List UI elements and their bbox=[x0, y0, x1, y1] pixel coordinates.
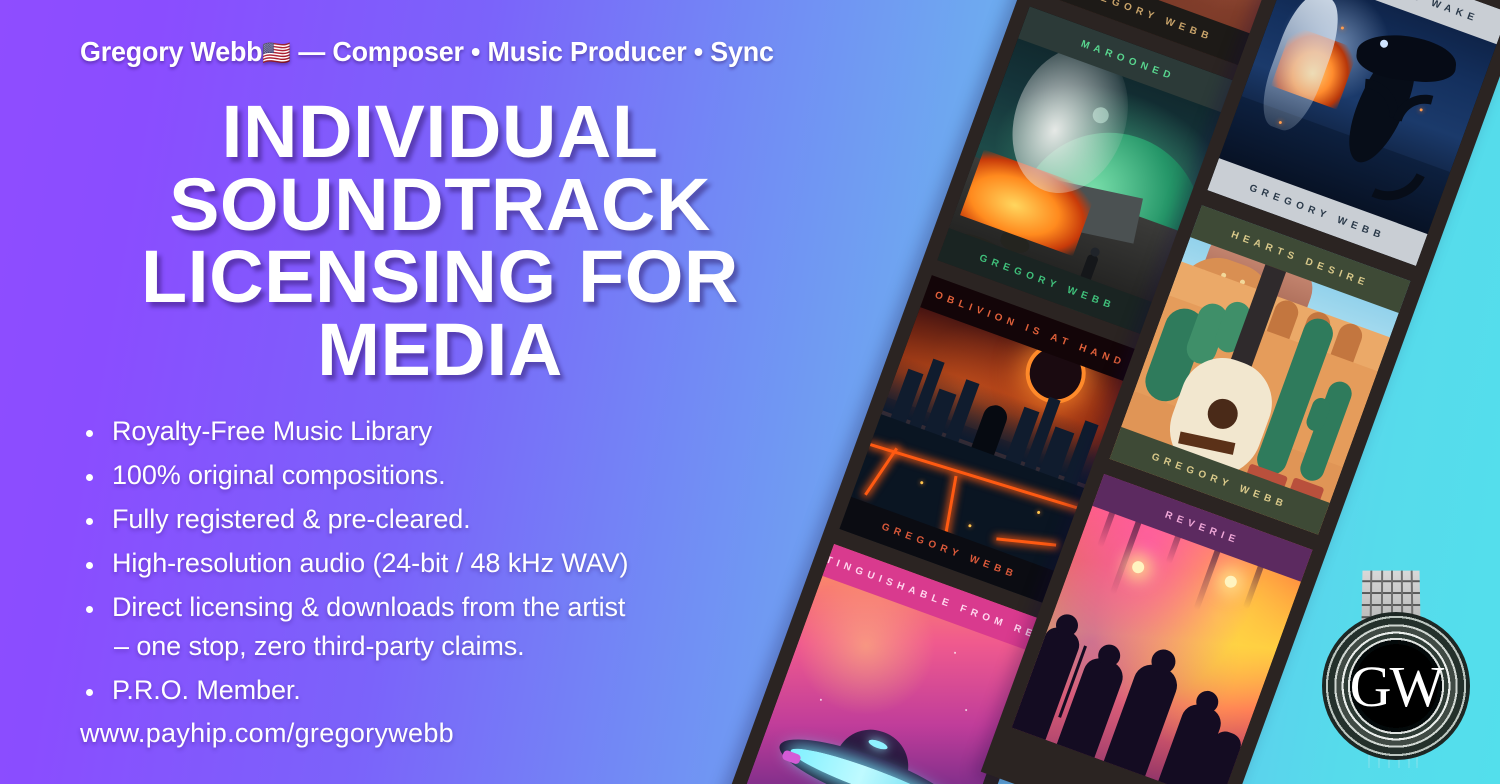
gw-guitar-logo: GW bbox=[1316, 568, 1476, 768]
headline-line-1: INDIVIDUAL bbox=[0, 96, 889, 169]
artist-name: Gregory Webb bbox=[80, 36, 262, 67]
list-item-subtext: – one stop, zero third-party claims. bbox=[112, 633, 838, 660]
store-url[interactable]: www.payhip.com/gregorywebb bbox=[80, 718, 454, 749]
headline-line-2: SOUNDTRACK bbox=[0, 169, 889, 242]
list-item-text: P.R.O. Member. bbox=[112, 675, 301, 705]
list-item: 100% original compositions. bbox=[78, 462, 838, 489]
list-item-text: 100% original compositions. bbox=[112, 460, 445, 490]
list-item: High-resolution audio (24-bit / 48 kHz W… bbox=[78, 550, 838, 577]
artist-byline: Gregory Webb🇺🇸 — Composer • Music Produc… bbox=[80, 36, 774, 68]
list-item-text: Direct licensing & downloads from the ar… bbox=[112, 592, 625, 622]
list-item-text: Fully registered & pre-cleared. bbox=[112, 504, 471, 534]
list-item: P.R.O. Member. bbox=[78, 677, 838, 704]
artist-roles: — Composer • Music Producer • Sync bbox=[298, 36, 773, 67]
feature-list: Royalty-Free Music Library 100% original… bbox=[78, 418, 838, 721]
headline-line-4: MEDIA bbox=[0, 314, 889, 387]
page-title: INDIVIDUAL SOUNDTRACK LICENSING FOR MEDI… bbox=[0, 96, 880, 386]
list-item: Royalty-Free Music Library bbox=[78, 418, 838, 445]
headline-line-3: LICENSING FOR bbox=[0, 241, 889, 314]
list-item-text: Royalty-Free Music Library bbox=[112, 416, 432, 446]
promo-graphic: GREGORY WEBB MAROONE bbox=[0, 0, 1500, 784]
list-item-text: High-resolution audio (24-bit / 48 kHz W… bbox=[112, 548, 628, 578]
promo-copy: Gregory Webb🇺🇸 — Composer • Music Produc… bbox=[0, 0, 900, 784]
list-item: Direct licensing & downloads from the ar… bbox=[78, 594, 838, 660]
us-flag-icon: 🇺🇸 bbox=[262, 40, 291, 67]
logo-initials: GW bbox=[1322, 612, 1470, 760]
list-item: Fully registered & pre-cleared. bbox=[78, 506, 838, 533]
